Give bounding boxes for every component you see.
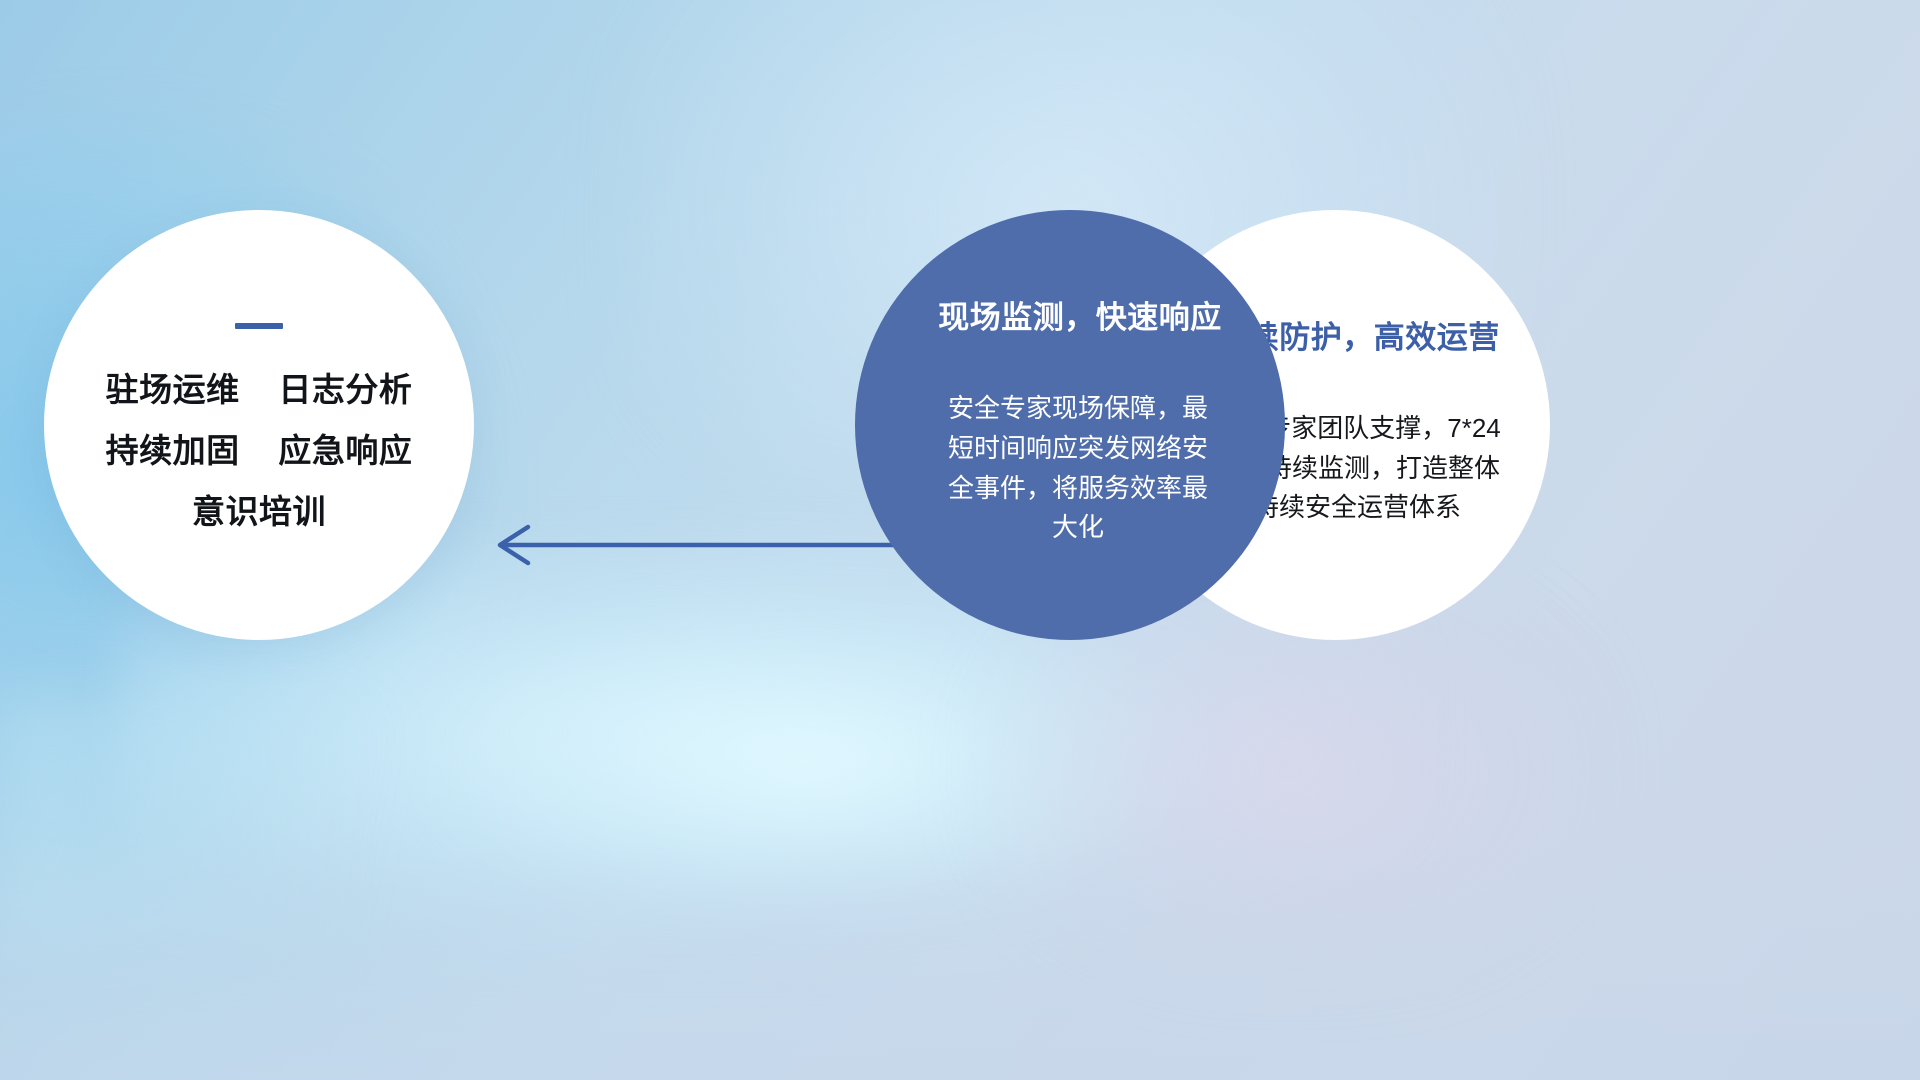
list-item: 持续加固 应急响应 xyxy=(106,434,413,467)
service-item-list: 驻场运维 日志分析 持续加固 应急响应 意识培训 xyxy=(106,373,413,528)
arrow-svg xyxy=(480,500,900,590)
connector-arrow xyxy=(480,500,900,590)
mid-card-body: 安全专家现场保障，最短时间响应突发网络安全事件，将服务效率最大化 xyxy=(920,389,1220,547)
card-circle-onsite-monitoring[interactable]: 现场监测，快速响应 安全专家现场保障，最短时间响应突发网络安全事件，将服务效率最… xyxy=(855,210,1285,640)
divider-dash-icon xyxy=(235,323,283,329)
background-bottom-fade xyxy=(0,840,1920,1080)
list-item: 意识培训 xyxy=(106,495,413,528)
mid-card-title: 现场监测，快速响应 xyxy=(918,302,1222,333)
list-item: 驻场运维 日志分析 xyxy=(106,373,413,406)
card-circle-service-items[interactable]: 驻场运维 日志分析 持续加固 应急响应 意识培训 xyxy=(44,210,474,640)
